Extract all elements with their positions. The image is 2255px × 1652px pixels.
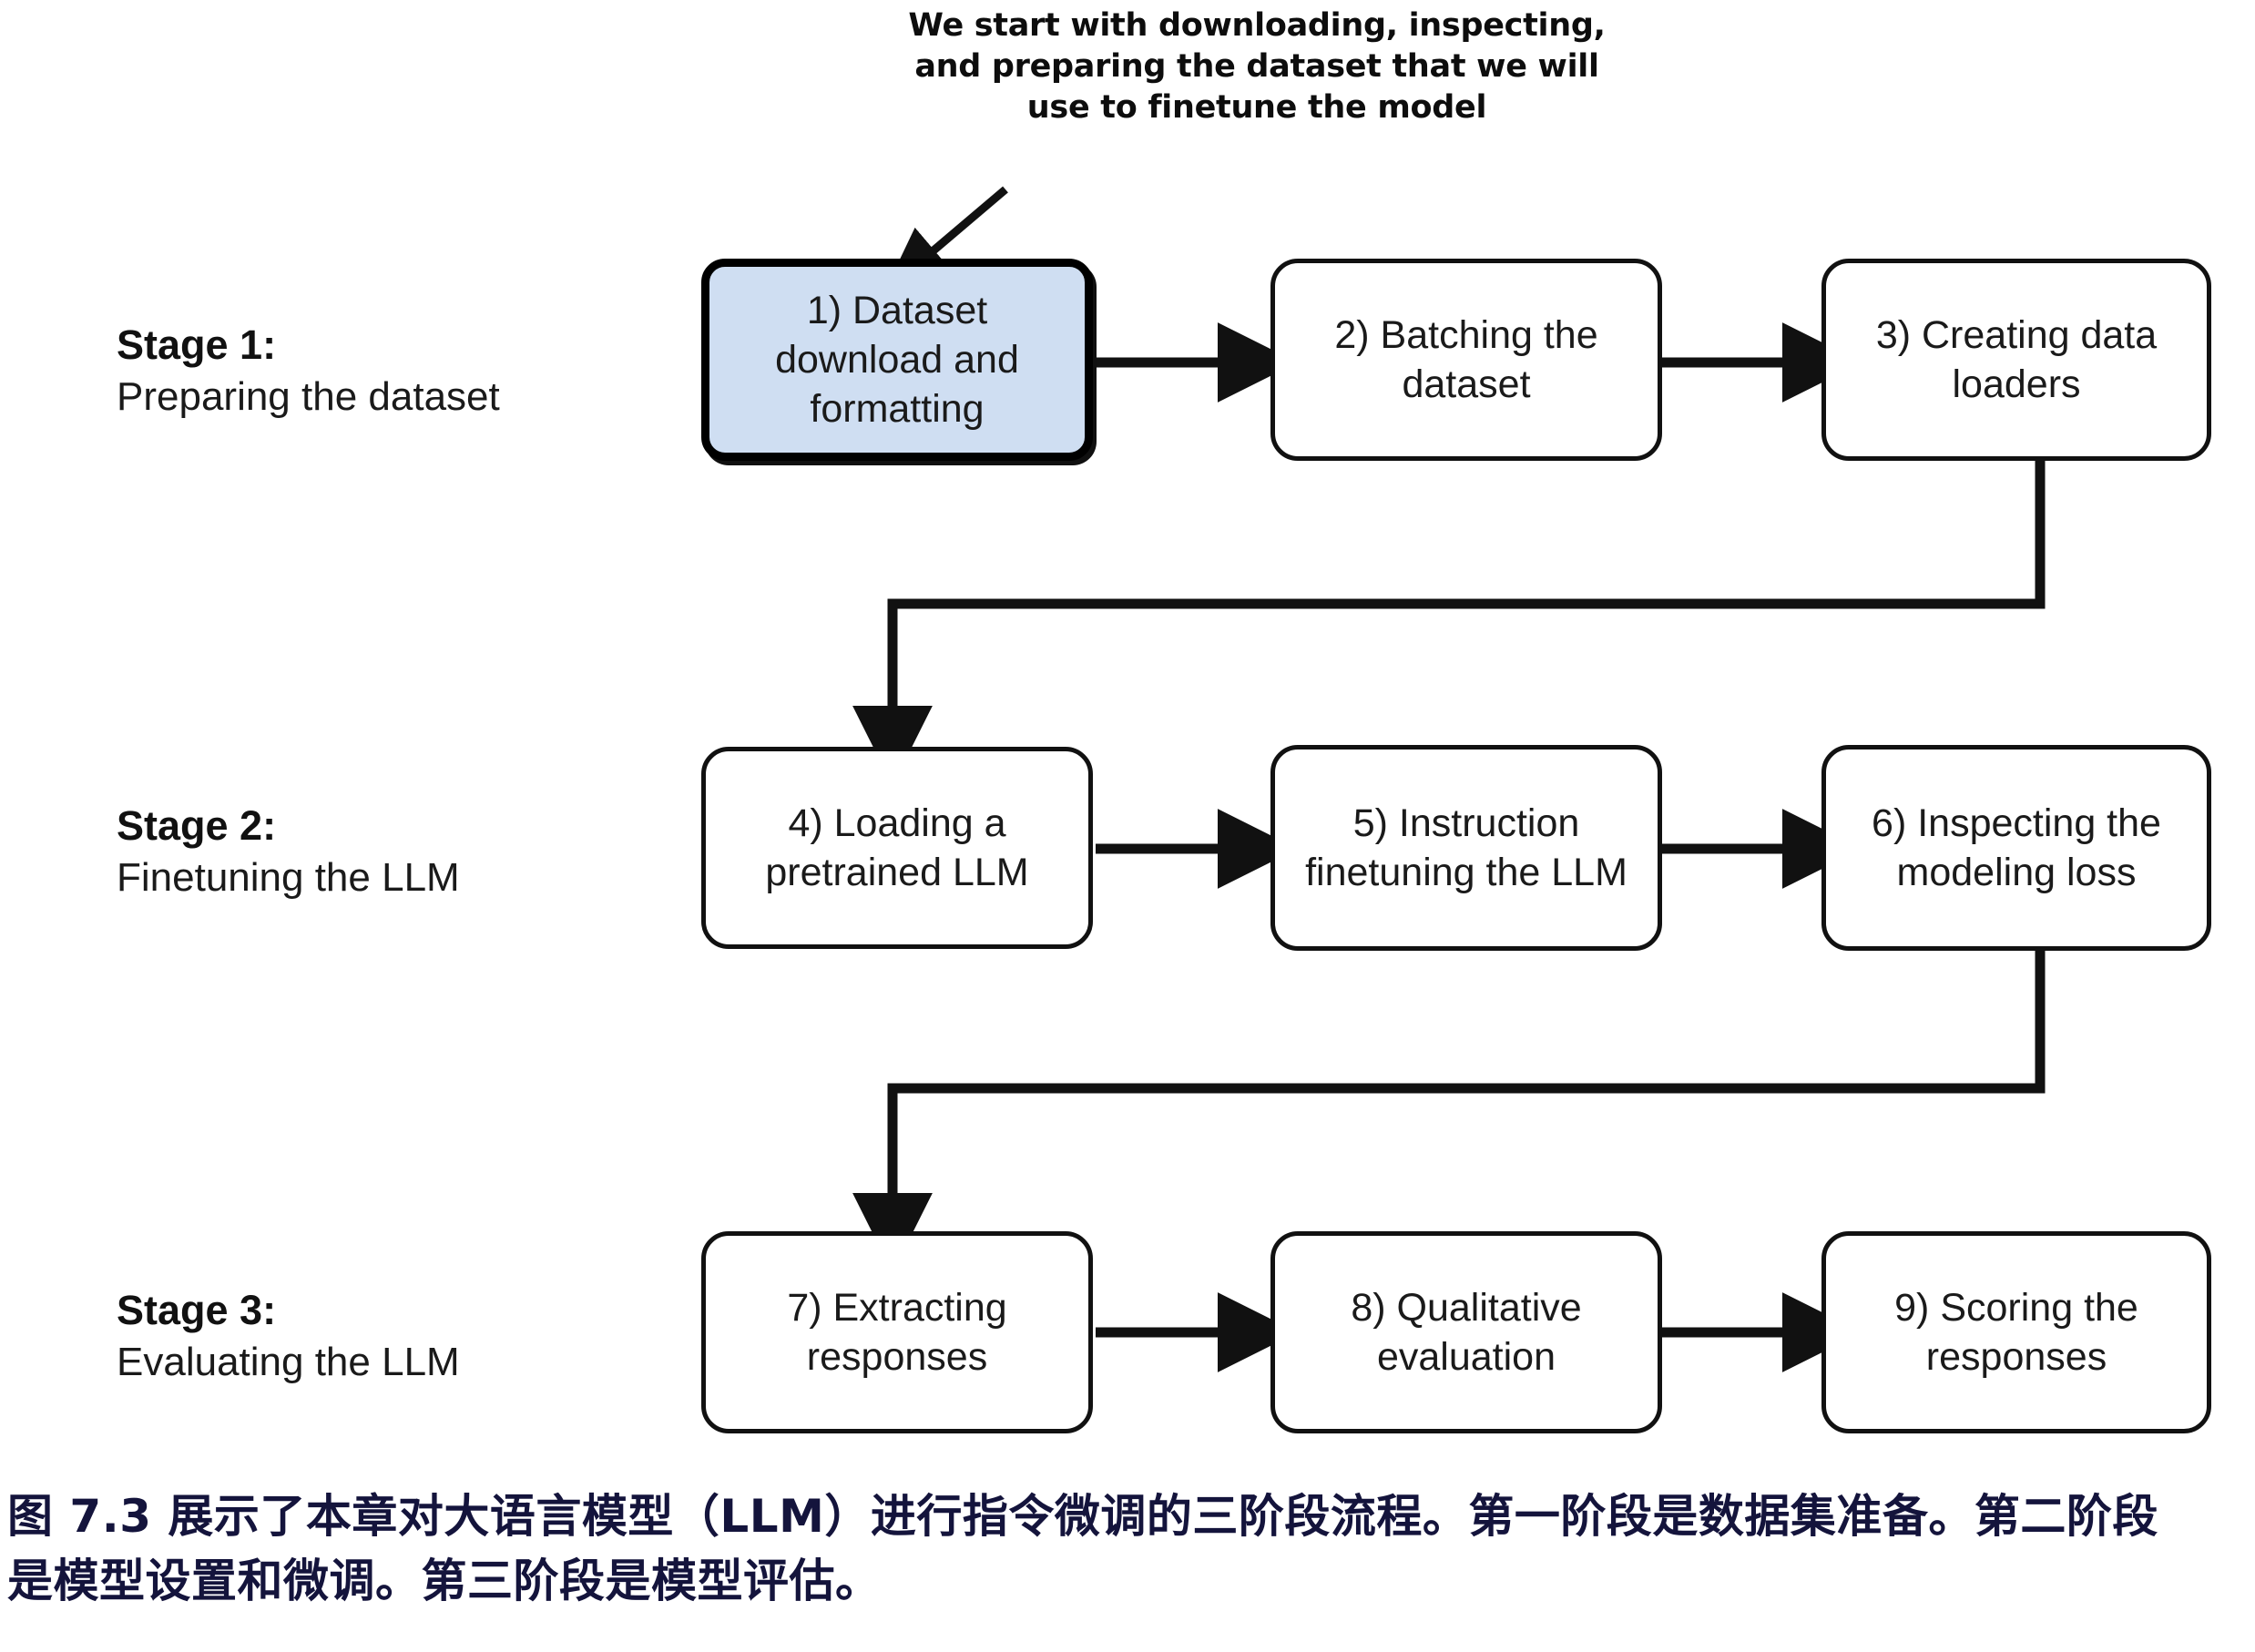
stage-1-title: Stage 1: <box>117 321 699 369</box>
arrow-step6-to-step7 <box>893 950 2040 1225</box>
step-box-2[interactable]: 2) Batching the dataset <box>1270 259 1662 461</box>
figure-caption: 图 7.3 展示了本章对大语言模型（LLM）进行指令微调的三阶段流程。第一阶段是… <box>7 1484 2251 1614</box>
step-box-8-label: 8) Qualitative evaluation <box>1288 1283 1645 1382</box>
annotation-pointer-arrow <box>915 189 1005 266</box>
step-box-1-label: 1) Dataset download and formatting <box>722 286 1072 434</box>
step-box-3[interactable]: 3) Creating data loaders <box>1821 259 2211 461</box>
caption-line-2: 是模型设置和微调。第三阶段是模型评估。 <box>7 1549 2251 1614</box>
stage-2-subtitle: Finetuning the LLM <box>117 854 699 902</box>
step-box-4-label: 4) Loading a pretrained LLM <box>719 799 1076 897</box>
step-box-5-label: 5) Instruction finetuning the LLM <box>1288 799 1645 897</box>
arrow-step3-to-step4 <box>893 460 2040 738</box>
step-box-7-label: 7) Extracting responses <box>719 1283 1076 1382</box>
step-box-2-label: 2) Batching the dataset <box>1288 311 1645 409</box>
step-box-6[interactable]: 6) Inspecting the modeling loss <box>1821 745 2211 951</box>
stage-label-2: Stage 2: Finetuning the LLM <box>117 801 699 902</box>
stage-2-title: Stage 2: <box>117 801 699 850</box>
figure-canvas: We start with downloading, inspecting, a… <box>0 0 2255 1652</box>
step-box-9[interactable]: 9) Scoring the responses <box>1821 1231 2211 1433</box>
annotation-callout: We start with downloading, inspecting, a… <box>856 5 1658 127</box>
stage-label-1: Stage 1: Preparing the dataset <box>117 321 699 422</box>
stage-1-subtitle: Preparing the dataset <box>117 373 699 422</box>
step-box-3-label: 3) Creating data loaders <box>1839 311 2194 409</box>
annotation-line-2: and preparing the dataset that we will <box>856 46 1658 87</box>
stage-label-3: Stage 3: Evaluating the LLM <box>117 1286 699 1387</box>
stage-3-subtitle: Evaluating the LLM <box>117 1339 699 1387</box>
step-box-8[interactable]: 8) Qualitative evaluation <box>1270 1231 1662 1433</box>
annotation-line-1: We start with downloading, inspecting, <box>856 5 1658 46</box>
caption-line-1: 图 7.3 展示了本章对大语言模型（LLM）进行指令微调的三阶段流程。第一阶段是… <box>7 1484 2251 1549</box>
step-box-7[interactable]: 7) Extracting responses <box>701 1231 1093 1433</box>
annotation-line-3: use to finetune the model <box>856 87 1658 128</box>
step-box-5[interactable]: 5) Instruction finetuning the LLM <box>1270 745 1662 951</box>
step-box-4[interactable]: 4) Loading a pretrained LLM <box>701 747 1093 949</box>
stage-3-title: Stage 3: <box>117 1286 699 1334</box>
step-box-9-label: 9) Scoring the responses <box>1839 1283 2194 1382</box>
step-box-1[interactable]: 1) Dataset download and formatting <box>701 259 1093 461</box>
step-box-6-label: 6) Inspecting the modeling loss <box>1839 799 2194 897</box>
